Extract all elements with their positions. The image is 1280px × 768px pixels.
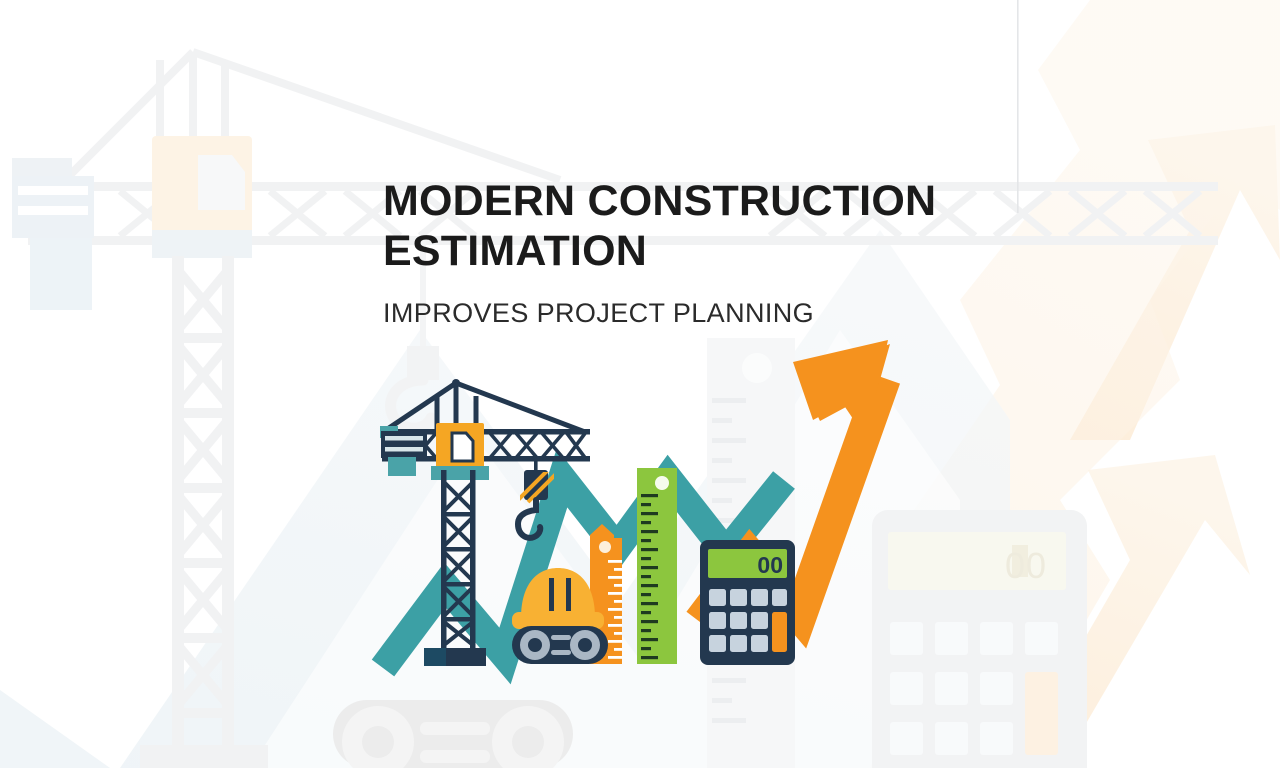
headline-block: MODERN CONSTRUCTION ESTIMATION IMPROVES … xyxy=(383,176,1003,329)
slide-canvas: 00 xyxy=(0,0,1280,768)
page-subtitle: IMPROVES PROJECT PLANNING xyxy=(383,276,1003,329)
calculator: 00 xyxy=(700,540,795,665)
construction-estimation-illustration: 00 xyxy=(0,0,1280,768)
page-title: MODERN CONSTRUCTION ESTIMATION xyxy=(383,176,1003,276)
calculator-equals-key xyxy=(772,612,787,652)
calculator-display-value: 00 xyxy=(757,552,783,578)
green-ruler xyxy=(637,468,677,664)
bulldozer-track xyxy=(512,626,608,664)
